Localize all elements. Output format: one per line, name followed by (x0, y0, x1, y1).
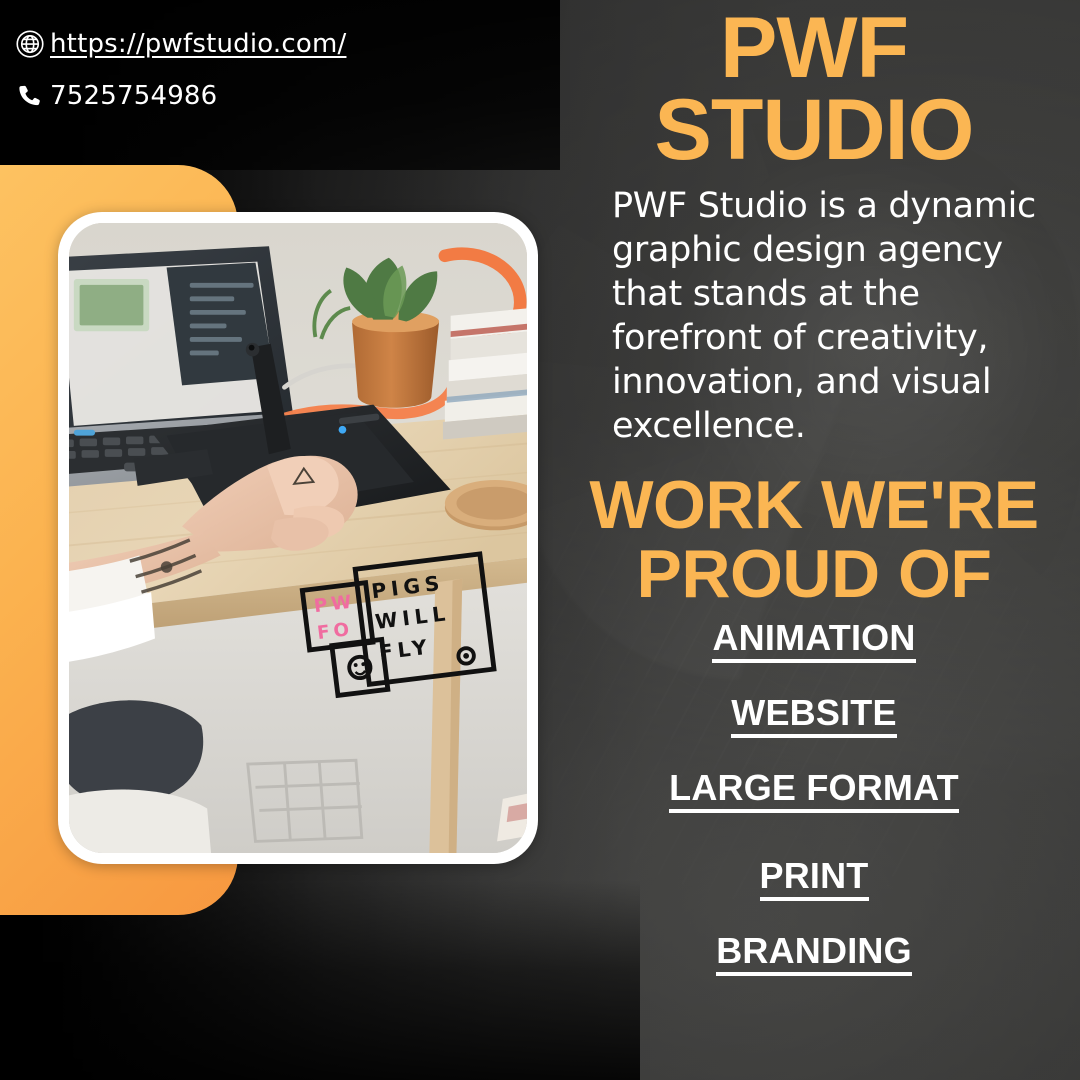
svg-text:FO: FO (316, 619, 354, 644)
service-label: ANIMATION (712, 620, 915, 663)
brand-title-line2: STUDIO (566, 90, 1062, 172)
services-list: ANIMATION WEBSITE LARGE FORMAT PRINT BRA… (566, 620, 1062, 976)
content-column: PWF STUDIO PWF Studio is a dynamic graph… (548, 0, 1080, 1080)
contact-header: https://pwfstudio.com/ 7525754986 (0, 18, 540, 122)
work-title-line2: PROUD OF (637, 536, 992, 612)
phone-number[interactable]: 7525754986 (50, 81, 217, 111)
service-label: PRINT (760, 858, 869, 901)
service-item-branding[interactable]: BRANDING (566, 933, 1062, 976)
service-item-print[interactable]: PRINT (566, 858, 1062, 901)
website-row[interactable]: https://pwfstudio.com/ (0, 18, 540, 70)
phone-icon (10, 76, 50, 116)
service-item-animation[interactable]: ANIMATION (566, 620, 1062, 663)
intro-paragraph: PWF Studio is a dynamic graphic design a… (566, 185, 1062, 449)
website-link[interactable]: https://pwfstudio.com/ (50, 29, 346, 59)
phone-row[interactable]: 7525754986 (0, 70, 540, 122)
page-title: PWF STUDIO (566, 8, 1062, 171)
workspace-photo: PIGS WILL FLY PW FO (69, 223, 527, 853)
service-item-large-format[interactable]: LARGE FORMAT (566, 770, 1062, 813)
service-label: WEBSITE (731, 695, 896, 738)
work-section-title: WORK WE'RE PROUD OF (566, 471, 1062, 610)
service-label: LARGE FORMAT (669, 770, 959, 813)
photo-card: PIGS WILL FLY PW FO (58, 212, 538, 864)
service-item-website[interactable]: WEBSITE (566, 695, 1062, 738)
poster-canvas: https://pwfstudio.com/ 7525754986 (0, 0, 1080, 1080)
globe-icon (10, 24, 50, 64)
workspace-photo-illustration: PIGS WILL FLY PW FO (69, 223, 527, 853)
service-label: BRANDING (716, 933, 912, 976)
work-title-line1: WORK WE'RE (589, 467, 1038, 543)
